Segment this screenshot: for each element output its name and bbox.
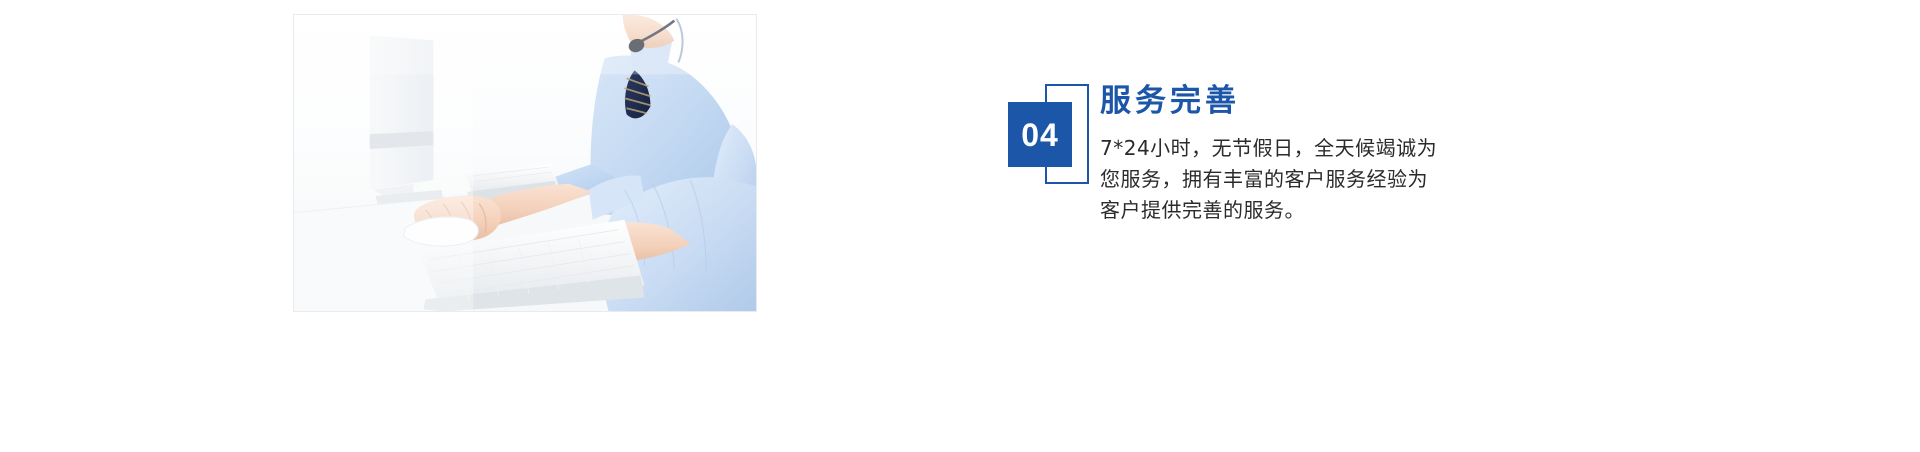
feature-title: 服务完善 <box>1100 84 1520 118</box>
feature-description: 7*24小时，无节假日，全天候竭诚为 您服务，拥有丰富的客户服务经验为 客户提供… <box>1100 133 1520 226</box>
service-team-illustration <box>294 15 756 311</box>
feature-number-badge: 04 <box>1000 84 1090 184</box>
feature-content: 04 服务完善 7*24小时，无节假日，全天候竭诚为 您服务，拥有丰富的客户服务… <box>1000 84 1620 264</box>
feature-description-line-2: 您服务，拥有丰富的客户服务经验为 <box>1100 164 1520 195</box>
badge-filled-square: 04 <box>1008 102 1072 167</box>
feature-text-column: 服务完善 7*24小时，无节假日，全天候竭诚为 您服务，拥有丰富的客户服务经验为… <box>1100 84 1520 226</box>
promo-banner: 04 服务完善 7*24小时，无节假日，全天候竭诚为 您服务，拥有丰富的客户服务… <box>0 0 1920 452</box>
feature-description-line-1: 7*24小时，无节假日，全天候竭诚为 <box>1100 133 1520 164</box>
feature-description-line-3: 客户提供完善的服务。 <box>1100 195 1520 226</box>
service-team-photo <box>293 14 757 312</box>
badge-number: 04 <box>1021 119 1059 151</box>
